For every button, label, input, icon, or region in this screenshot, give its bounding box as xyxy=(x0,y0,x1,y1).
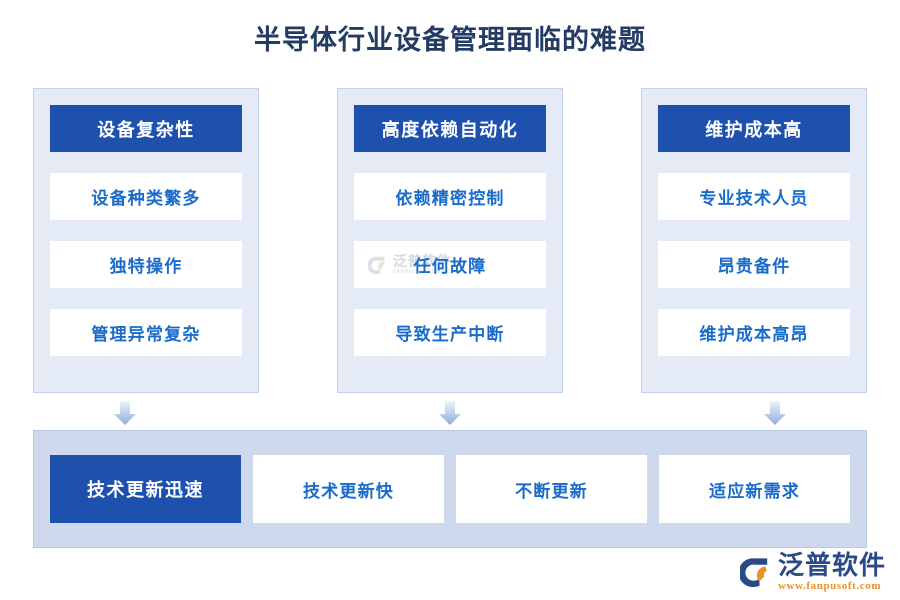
bottom-row-item-1: 技术更新快 xyxy=(253,455,444,523)
column-1-item-1: 设备种类繁多 xyxy=(50,173,242,220)
column-2-item-3: 导致生产中断 xyxy=(354,309,546,356)
corner-logo-text: 泛普软件 www.fanpusoft.com xyxy=(778,552,886,592)
column-panel-3: 维护成本高 专业技术人员 昂贵备件 维护成本高昂 xyxy=(641,88,867,393)
down-arrow-icon-3 xyxy=(762,400,788,426)
column-1-item-2: 独特操作 xyxy=(50,241,242,288)
column-3-item-3: 维护成本高昂 xyxy=(658,309,850,356)
column-panel-1: 设备复杂性 设备种类繁多 独特操作 管理异常复杂 xyxy=(33,88,259,393)
column-panel-2: 高度依赖自动化 依赖精密控制 泛普软件 FANPU SOFTWARE 任何故障 … xyxy=(337,88,563,393)
column-2-item-1: 依赖精密控制 xyxy=(354,173,546,220)
down-arrow-icon-2 xyxy=(437,400,463,426)
down-arrow-icon-1 xyxy=(112,400,138,426)
column-2-item-2-label: 任何故障 xyxy=(414,252,487,277)
page-title: 半导体行业设备管理面临的难题 xyxy=(0,20,900,60)
fanpu-swoosh-logo-icon xyxy=(740,555,774,589)
corner-logo: 泛普软件 www.fanpusoft.com xyxy=(740,552,886,592)
bottom-panel: 技术更新迅速 技术更新快 不断更新 适应新需求 xyxy=(33,430,867,548)
column-1-header: 设备复杂性 xyxy=(50,105,242,152)
bottom-row-item-3: 适应新需求 xyxy=(659,455,850,523)
corner-logo-url: www.fanpusoft.com xyxy=(778,581,886,592)
corner-logo-cn: 泛普软件 xyxy=(778,552,886,578)
column-2-item-2: 泛普软件 FANPU SOFTWARE 任何故障 xyxy=(354,241,546,288)
column-3-header: 维护成本高 xyxy=(658,105,850,152)
column-3-item-1: 专业技术人员 xyxy=(658,173,850,220)
column-1-item-3: 管理异常复杂 xyxy=(50,309,242,356)
column-2-header: 高度依赖自动化 xyxy=(354,105,546,152)
bottom-row-item-2: 不断更新 xyxy=(456,455,647,523)
fanpu-swoosh-logo-icon xyxy=(368,254,390,276)
bottom-row-header: 技术更新迅速 xyxy=(50,455,241,523)
column-3-item-2: 昂贵备件 xyxy=(658,241,850,288)
columns-container: 设备复杂性 设备种类繁多 独特操作 管理异常复杂 高度依赖自动化 依赖精密控制 … xyxy=(33,88,867,393)
